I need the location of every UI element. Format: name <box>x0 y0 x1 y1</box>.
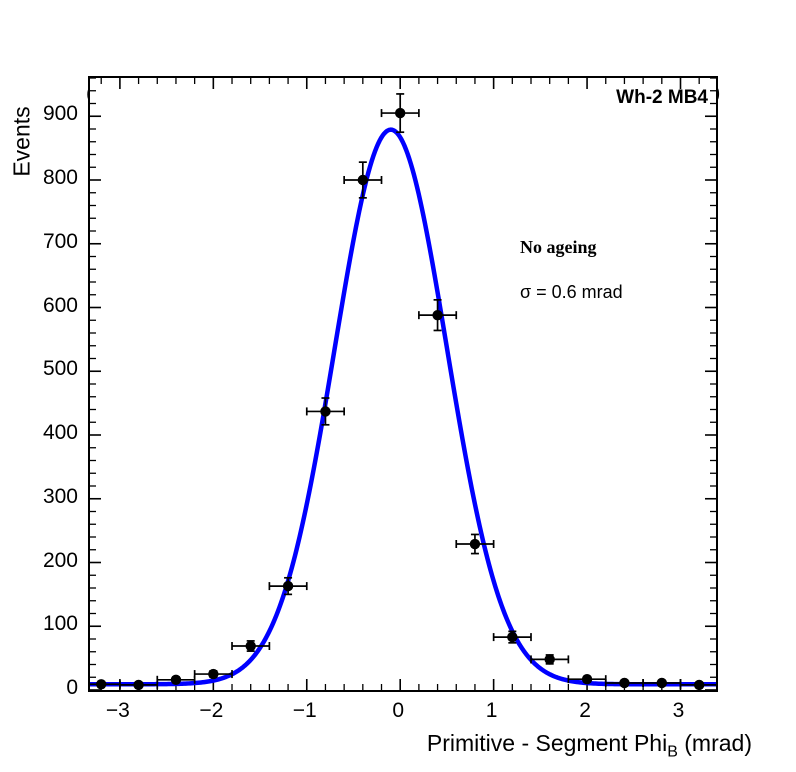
data-point <box>307 398 344 425</box>
y-tick-label: 200 <box>43 550 78 571</box>
plot-area <box>90 78 716 690</box>
y-axis-tick-labels: 0100200300400500600700800900 <box>0 0 78 772</box>
x-tick-label: −2 <box>199 700 223 721</box>
x-axis-title-subscript: B <box>667 744 678 761</box>
y-tick-label: 300 <box>43 486 78 507</box>
y-tick-label: 400 <box>43 422 78 443</box>
data-point <box>680 680 716 690</box>
data-points <box>90 94 716 690</box>
data-point <box>90 679 120 689</box>
plot-frame: Wh-2 MB4 No ageing σ = 0.6 mrad <box>88 76 718 692</box>
data-point <box>494 631 531 642</box>
x-axis-title-unit: (mrad) <box>684 730 752 756</box>
y-tick-label: 700 <box>43 231 78 252</box>
data-point <box>344 162 381 198</box>
y-tick-label: 500 <box>43 358 78 379</box>
x-axis-title: Primitive - Segment PhiB (mrad) <box>0 732 796 764</box>
sigma-label: σ = 0.6 mrad <box>520 283 623 301</box>
x-tick-label: 3 <box>673 700 685 721</box>
x-axis-title-main: Primitive - Segment Phi <box>427 730 667 756</box>
ageing-label: No ageing <box>520 238 597 256</box>
y-tick-label: 900 <box>43 103 78 124</box>
data-point <box>382 94 419 132</box>
y-tick-label: 800 <box>43 167 78 188</box>
y-tick-label: 600 <box>43 295 78 316</box>
axis-ticks <box>90 78 716 690</box>
x-tick-label: 1 <box>486 700 498 721</box>
plot-canvas: CMS Phase-2 Simulation Preliminary PU 20… <box>0 0 796 772</box>
x-tick-label: −3 <box>106 700 130 721</box>
data-point <box>419 300 456 331</box>
data-point <box>643 678 680 688</box>
y-tick-label: 100 <box>43 613 78 634</box>
data-point <box>269 578 306 595</box>
data-point <box>606 678 643 688</box>
data-point <box>120 680 157 690</box>
x-axis-tick-labels: −3−2−10123 <box>0 700 796 730</box>
header-row: CMS Phase-2 Simulation Preliminary PU 20… <box>0 40 796 72</box>
x-tick-label: 0 <box>392 700 404 721</box>
chamber-label: Wh-2 MB4 <box>616 88 708 107</box>
x-tick-label: 2 <box>579 700 591 721</box>
x-tick-label: −1 <box>293 700 317 721</box>
data-point <box>456 534 493 553</box>
gaussian-fit-curve <box>90 130 716 685</box>
y-tick-label: 0 <box>66 677 78 698</box>
